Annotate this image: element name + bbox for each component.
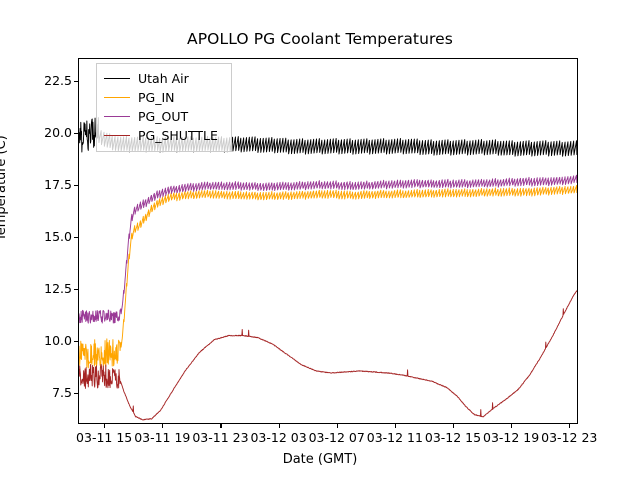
legend-color-swatch bbox=[104, 97, 130, 98]
x-axis-label: Date (GMT) bbox=[0, 452, 640, 467]
x-axis-tick-mark bbox=[453, 424, 454, 428]
x-axis-tick-mark bbox=[511, 424, 512, 428]
legend-color-swatch bbox=[104, 135, 130, 136]
x-axis-tick-mark bbox=[337, 424, 338, 428]
y-axis-tick-label: 20.0 bbox=[30, 125, 72, 140]
legend-color-swatch bbox=[104, 116, 130, 117]
legend-item[interactable]: PG_IN bbox=[104, 88, 224, 107]
series-line-pg-in bbox=[79, 185, 577, 368]
y-axis-tick-label: 17.5 bbox=[30, 177, 72, 192]
x-axis-tick-mark bbox=[395, 424, 396, 428]
legend-item[interactable]: PG_SHUTTLE bbox=[104, 126, 224, 145]
y-axis-tick-label: 10.0 bbox=[30, 333, 72, 348]
y-axis-tick-label: 7.5 bbox=[30, 385, 72, 400]
x-axis-tick-mark bbox=[220, 424, 221, 428]
y-axis-tick-label: 12.5 bbox=[30, 281, 72, 296]
y-axis-label: Temperature (C) bbox=[0, 41, 9, 241]
x-axis-tick-mark bbox=[162, 424, 163, 428]
legend-item[interactable]: Utah Air bbox=[104, 69, 224, 88]
y-axis-tick-label: 15.0 bbox=[30, 229, 72, 244]
x-axis-tick-label: 03-12 23 bbox=[524, 430, 614, 445]
legend-item-label: PG_IN bbox=[138, 90, 175, 105]
chart-title: APOLLO PG Coolant Temperatures bbox=[0, 30, 640, 48]
chart-figure: APOLLO PG Coolant Temperatures Temperatu… bbox=[0, 0, 640, 480]
x-axis-tick-mark bbox=[104, 424, 105, 428]
legend-item[interactable]: PG_OUT bbox=[104, 107, 224, 126]
x-axis-tick-mark bbox=[279, 424, 280, 428]
series-line-pg-shuttle bbox=[79, 288, 577, 420]
legend-item-label: PG_SHUTTLE bbox=[138, 128, 218, 143]
legend-item-label: Utah Air bbox=[138, 71, 189, 86]
legend-item-label: PG_OUT bbox=[138, 109, 188, 124]
legend-color-swatch bbox=[104, 78, 130, 79]
legend: Utah AirPG_INPG_OUTPG_SHUTTLE bbox=[96, 63, 232, 152]
x-axis-tick-mark bbox=[569, 424, 570, 428]
y-axis-tick-label: 22.5 bbox=[30, 73, 72, 88]
